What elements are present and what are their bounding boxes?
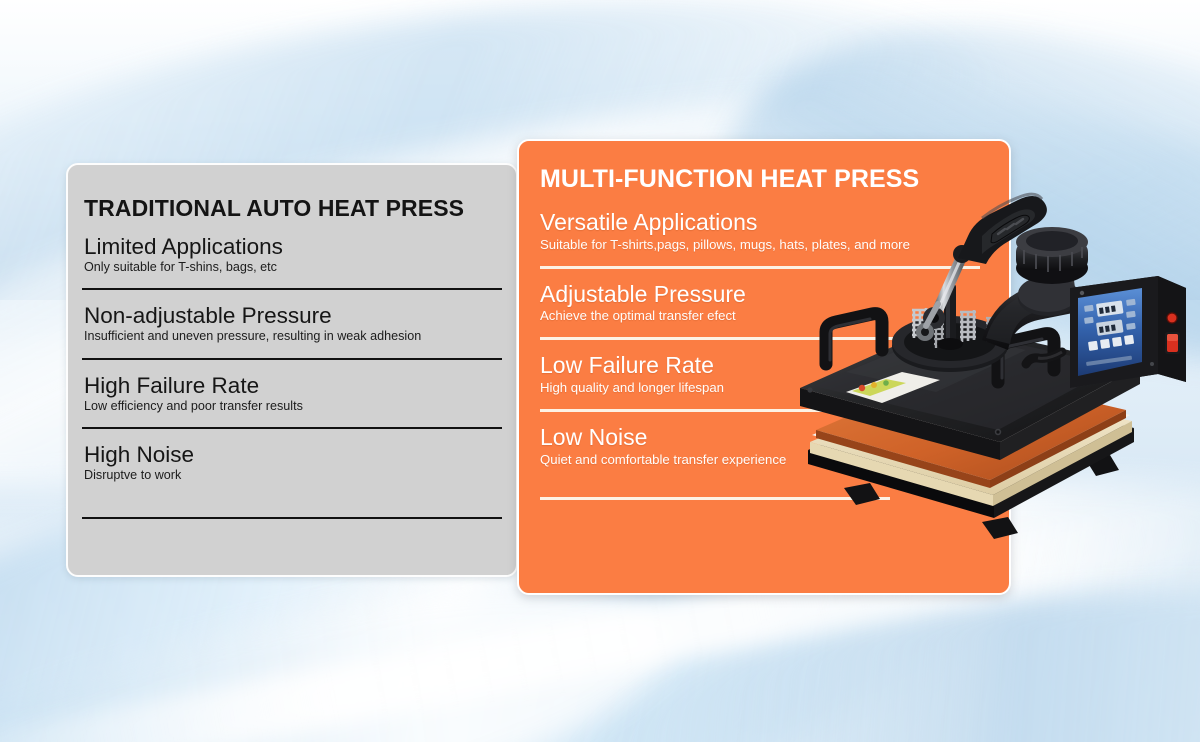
feature-heading: Low Failure Rate xyxy=(540,353,993,379)
feature-heading: Non-adjustable Pressure xyxy=(84,303,500,328)
traditional-panel-title: TRADITIONAL AUTO HEAT PRESS xyxy=(84,195,502,222)
divider-line xyxy=(82,358,502,360)
feature-heading: Limited Applications xyxy=(84,234,500,259)
feature-heading: Versatile Applications xyxy=(540,210,993,236)
multifunction-panel-title: MULTI-FUNCTION HEAT PRESS xyxy=(540,165,993,194)
divider-line xyxy=(540,409,888,412)
feature-subtext: High quality and longer lifespan xyxy=(540,380,993,396)
traditional-feature-item-4: High Noise Disruptve to work xyxy=(82,442,502,483)
feature-heading: Low Noise xyxy=(540,425,993,451)
traditional-feature-item-3: High Failure Rate Low efficiency and poo… xyxy=(82,373,502,414)
feature-heading: High Failure Rate xyxy=(84,373,500,398)
feature-subtext: Suitable for T-shirts,pags, pillows, mug… xyxy=(540,237,993,253)
divider-line xyxy=(540,337,900,340)
traditional-heat-press-panel: TRADITIONAL AUTO HEAT PRESS Limited Appl… xyxy=(66,163,518,577)
multifunction-feature-item-2: Adjustable Pressure Achieve the optimal … xyxy=(540,282,993,325)
feature-subtext: Insufficient and uneven pressure, result… xyxy=(84,329,500,344)
divider-line xyxy=(540,266,980,269)
divider-line xyxy=(82,517,502,519)
multifunction-feature-item-1: Versatile Applications Suitable for T-sh… xyxy=(540,210,993,253)
multifunction-feature-item-3: Low Failure Rate High quality and longer… xyxy=(540,353,993,396)
multifunction-feature-item-4: Low Noise Quiet and comfortable transfer… xyxy=(540,425,993,468)
divider-line xyxy=(82,288,502,290)
feature-subtext: Achieve the optimal transfer efect xyxy=(540,308,993,324)
feature-subtext: Low efficiency and poor transfer results xyxy=(84,399,500,414)
feature-subtext: Disruptve to work xyxy=(84,468,500,483)
multi-function-heat-press-panel: MULTI-FUNCTION HEAT PRESS Versatile Appl… xyxy=(517,139,1011,595)
feature-heading: Adjustable Pressure xyxy=(540,282,993,308)
divider-line xyxy=(82,427,502,429)
traditional-feature-item-1: Limited Applications Only suitable for T… xyxy=(82,234,502,275)
infographic-canvas: TRADITIONAL AUTO HEAT PRESS Limited Appl… xyxy=(0,0,1200,742)
feature-subtext: Only suitable for T-shins, bags, etc xyxy=(84,260,500,275)
traditional-feature-item-2: Non-adjustable Pressure Insufficient and… xyxy=(82,303,502,344)
divider-line xyxy=(540,497,890,500)
feature-heading: High Noise xyxy=(84,442,500,467)
feature-subtext: Quiet and comfortable transfer experienc… xyxy=(540,452,993,468)
